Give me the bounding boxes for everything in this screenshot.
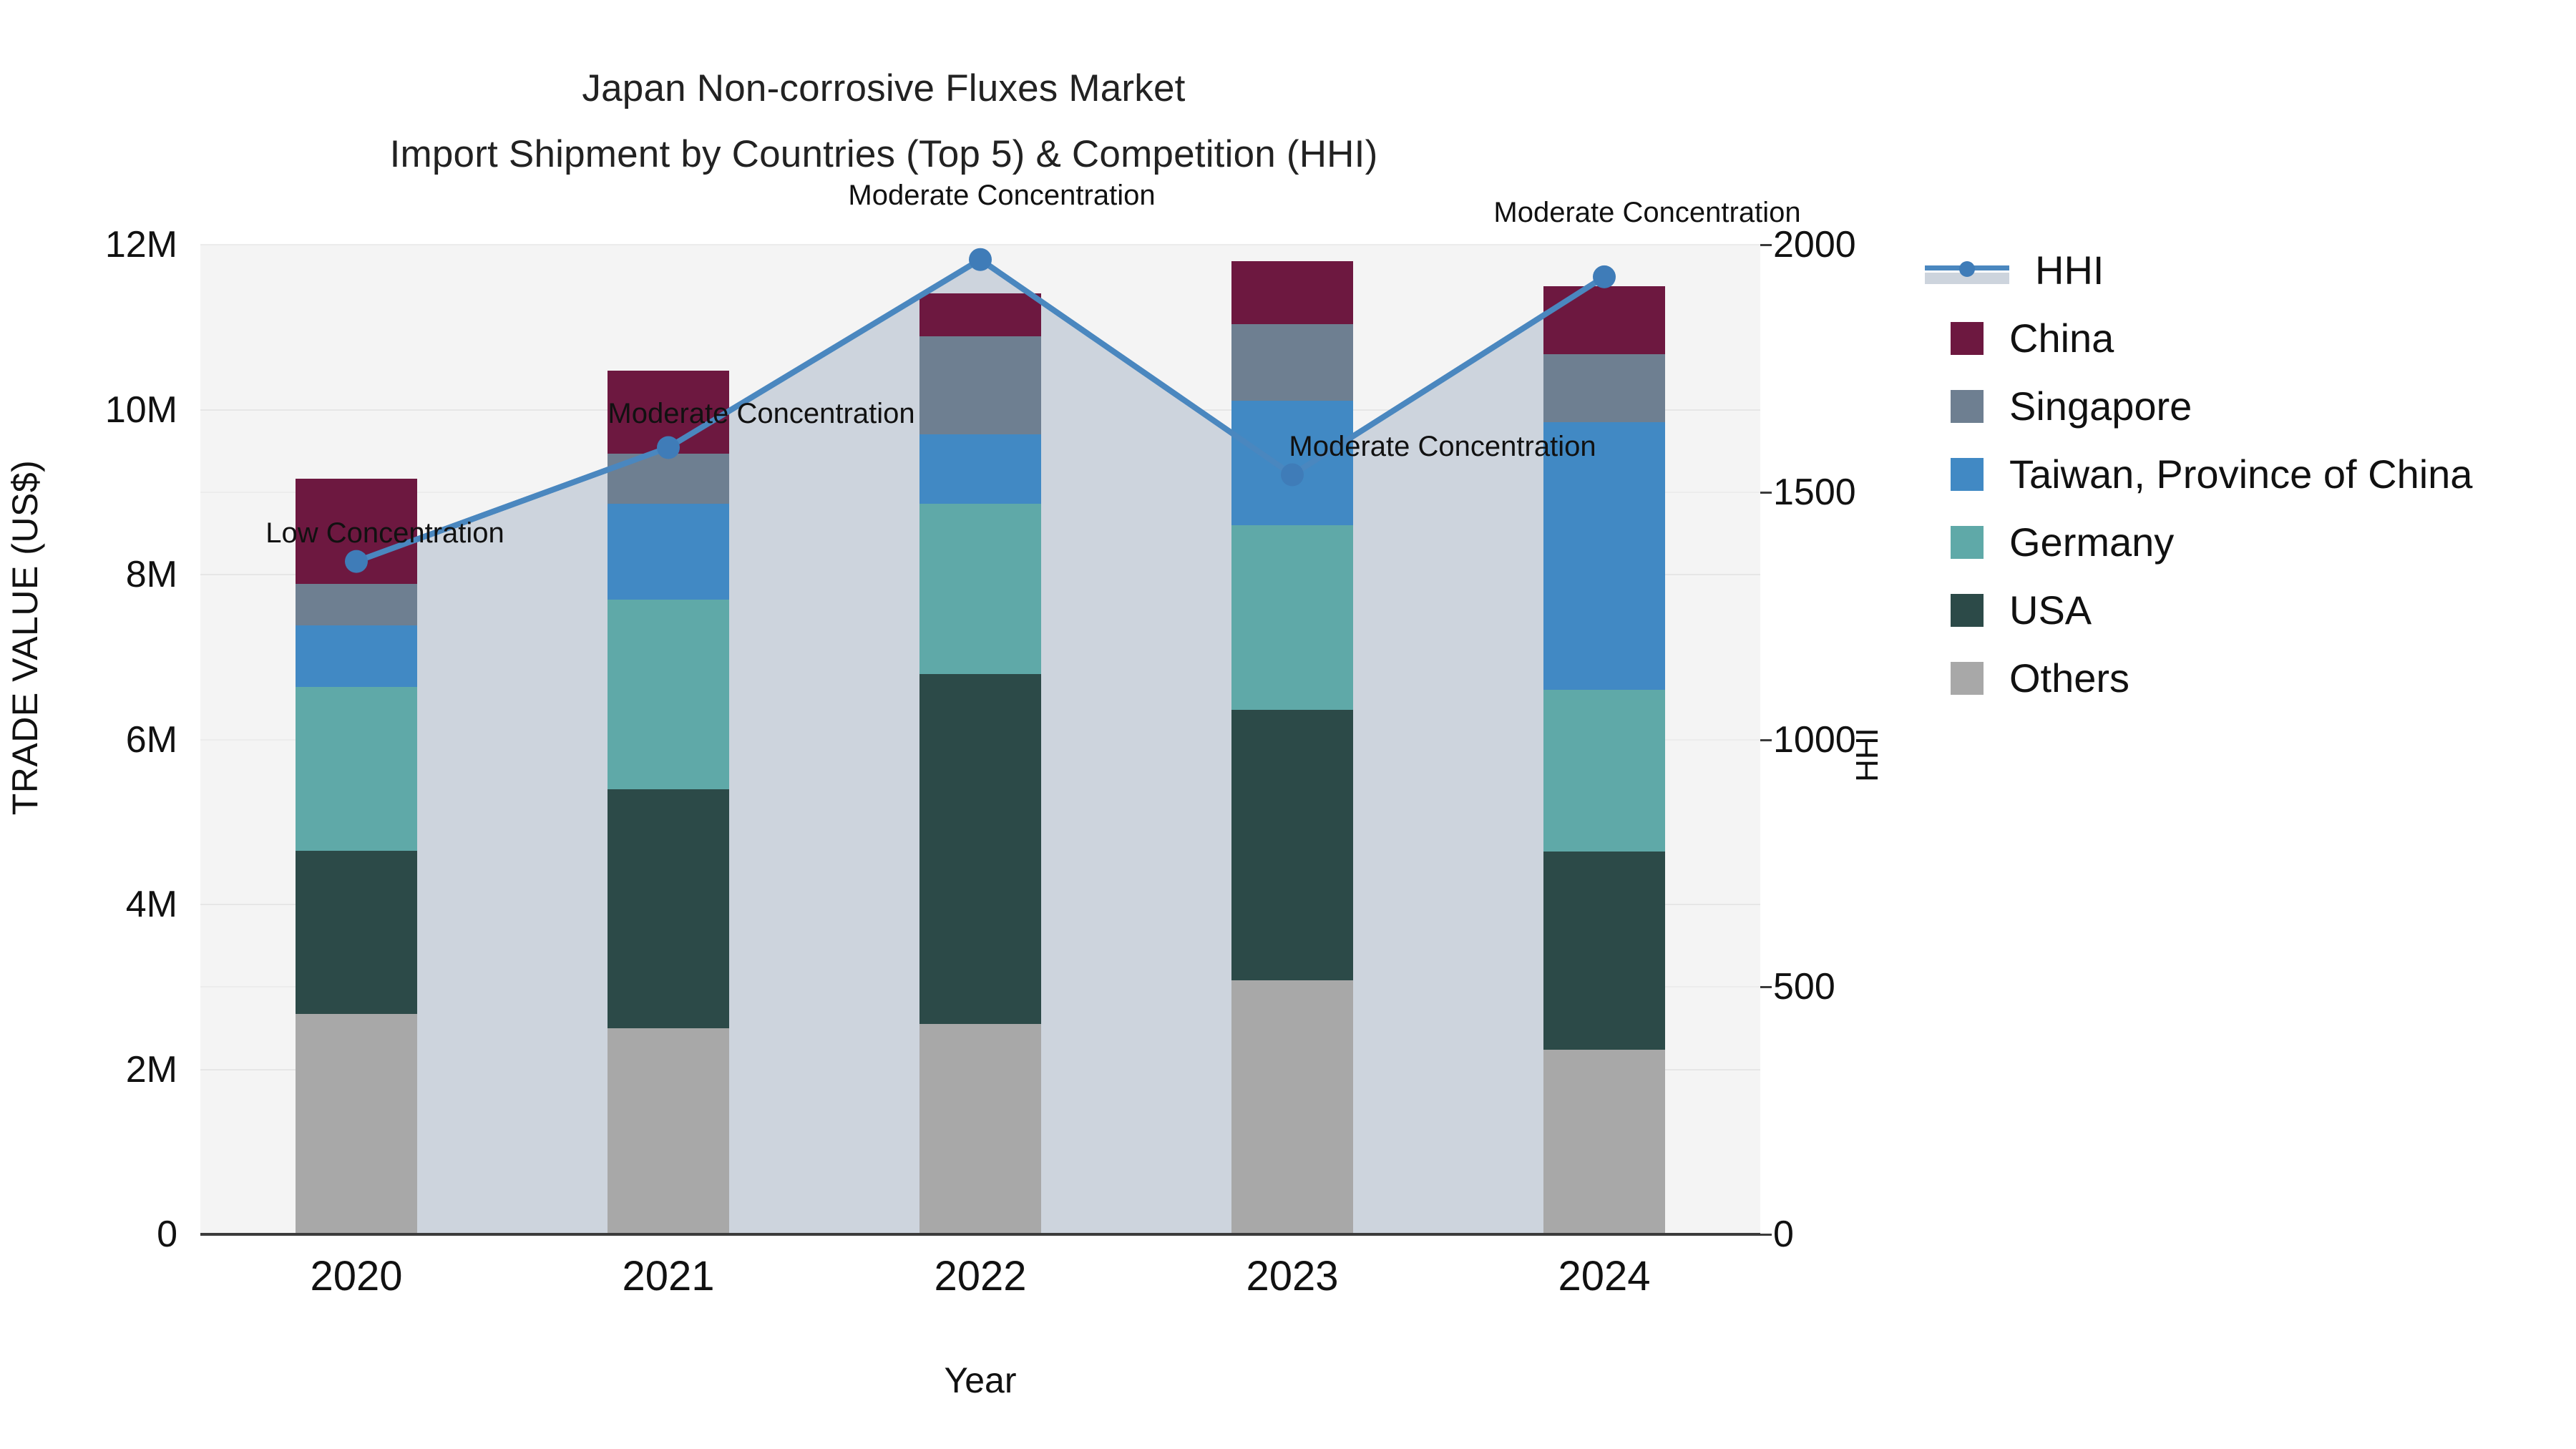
y-axis-right-tickmark — [1760, 986, 1772, 988]
bar-segment[interactable] — [1543, 354, 1665, 422]
legend-item[interactable]: Germany — [1925, 508, 2569, 576]
bar-segment[interactable] — [1543, 1050, 1665, 1234]
bar-stack[interactable] — [919, 245, 1041, 1234]
legend-item-label: HHI — [2035, 250, 2104, 291]
legend-item-label: Others — [2009, 658, 2129, 698]
legend-color-swatch — [1951, 390, 1984, 423]
bar-segment[interactable] — [608, 789, 729, 1028]
y-axis-right-tickmark — [1760, 739, 1772, 741]
y-axis-left-tick-label: 2M — [0, 1048, 177, 1091]
bar-segment[interactable] — [1231, 261, 1353, 324]
bar-segment[interactable] — [1543, 852, 1665, 1050]
y-axis-right-tick-label: 0 — [1773, 1213, 1794, 1256]
bar-stack[interactable] — [608, 245, 729, 1234]
y-axis-right-tick-label: 500 — [1773, 965, 1835, 1008]
y-axis-right-tick-label: 2000 — [1773, 223, 1856, 266]
bar-segment[interactable] — [919, 504, 1041, 675]
chart-root: Japan Non-corrosive Fluxes Market Import… — [0, 0, 2576, 1449]
y-axis-left-tick-label: 0 — [0, 1213, 177, 1256]
bar-segment[interactable] — [1231, 401, 1353, 525]
concentration-annotation: Moderate Concentration — [1289, 431, 1596, 463]
bar-segment[interactable] — [919, 293, 1041, 336]
x-axis-tick-label: 2021 — [622, 1252, 714, 1300]
bar-segment[interactable] — [296, 1014, 417, 1234]
x-axis-tick-label: 2020 — [310, 1252, 402, 1300]
chart-title-line-1: Japan Non-corrosive Fluxes Market — [0, 56, 1767, 122]
concentration-annotation: Moderate Concentration — [608, 398, 914, 430]
bar-stack[interactable] — [1543, 245, 1665, 1234]
x-axis-tick-label: 2024 — [1558, 1252, 1650, 1300]
bar-stack[interactable] — [296, 245, 417, 1234]
y-axis-right-tick-label: 1500 — [1773, 471, 1856, 514]
bar-stack[interactable] — [1231, 245, 1353, 1234]
y-axis-right-tick-label: 1000 — [1773, 718, 1856, 761]
legend-item[interactable]: Others — [1925, 644, 2569, 712]
concentration-annotation: Moderate Concentration — [1493, 197, 1800, 229]
legend-item-label: Taiwan, Province of China — [2009, 454, 2472, 494]
y-axis-left-title: TRADE VALUE (US$) — [4, 387, 46, 888]
bar-segment[interactable] — [919, 674, 1041, 1024]
legend-item[interactable]: HHI — [1925, 236, 2569, 304]
bar-segment[interactable] — [296, 851, 417, 1014]
legend-color-swatch — [1951, 526, 1984, 559]
bar-segment[interactable] — [1543, 690, 1665, 852]
plot-area: Low ConcentrationModerate ConcentrationM… — [200, 245, 1760, 1234]
bar-segment[interactable] — [608, 504, 729, 600]
bar-segment[interactable] — [296, 584, 417, 626]
chart-title: Japan Non-corrosive Fluxes Market Import… — [0, 56, 1767, 187]
legend-item[interactable]: Taiwan, Province of China — [1925, 440, 2569, 508]
bar-segment[interactable] — [296, 687, 417, 851]
bar-segment[interactable] — [608, 600, 729, 789]
chart-title-line-2: Import Shipment by Countries (Top 5) & C… — [0, 122, 1767, 187]
legend-item-label: Singapore — [2009, 386, 2192, 426]
bar-segment[interactable] — [608, 1028, 729, 1234]
legend: HHIChinaSingaporeTaiwan, Province of Chi… — [1925, 236, 2569, 712]
x-axis-line — [200, 1233, 1760, 1236]
y-axis-right-title: HHI — [1850, 662, 1885, 848]
y-axis-right-tickmark — [1760, 492, 1772, 494]
bar-segment[interactable] — [919, 336, 1041, 434]
bar-segment[interactable] — [1231, 710, 1353, 980]
bar-segment[interactable] — [1543, 286, 1665, 355]
x-axis-tick-label: 2023 — [1246, 1252, 1338, 1300]
y-axis-right-tickmark — [1760, 1234, 1772, 1236]
bar-segment[interactable] — [919, 434, 1041, 504]
legend-item[interactable]: USA — [1925, 576, 2569, 644]
legend-item-label: China — [2009, 318, 2114, 358]
legend-color-swatch — [1951, 662, 1984, 695]
legend-item[interactable]: China — [1925, 304, 2569, 372]
y-axis-left-tick-label: 4M — [0, 883, 177, 926]
x-axis-title: Year — [200, 1360, 1760, 1401]
x-axis-tick-label: 2022 — [934, 1252, 1026, 1300]
bar-segment[interactable] — [1231, 525, 1353, 710]
legend-color-swatch — [1951, 594, 1984, 627]
legend-item[interactable]: Singapore — [1925, 372, 2569, 440]
bar-segment[interactable] — [1231, 324, 1353, 401]
bar-segment[interactable] — [919, 1024, 1041, 1234]
bar-segment[interactable] — [296, 625, 417, 686]
concentration-annotation: Moderate Concentration — [848, 180, 1155, 212]
concentration-annotation: Low Concentration — [265, 517, 504, 550]
legend-item-label: Germany — [2009, 522, 2174, 562]
legend-item-label: USA — [2009, 590, 2092, 630]
bar-segment[interactable] — [1231, 980, 1353, 1234]
y-axis-right-tickmark — [1760, 244, 1772, 246]
bar-segment[interactable] — [608, 454, 729, 504]
legend-color-swatch — [1951, 322, 1984, 355]
y-axis-left-tick-label: 12M — [0, 223, 177, 266]
legend-line-marker-icon — [1925, 254, 2009, 287]
legend-color-swatch — [1951, 458, 1984, 491]
